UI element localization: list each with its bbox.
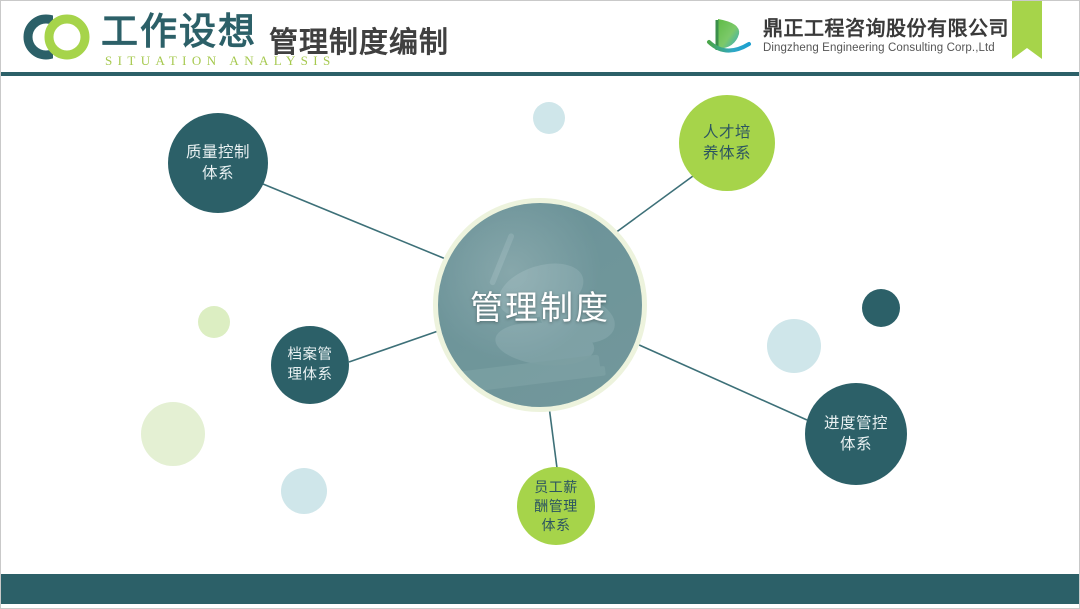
node-schedule-control[interactable]: 进度管控 体系 — [805, 383, 907, 485]
company-name-en: Dingzheng Engineering Consulting Corp.,L… — [763, 41, 1009, 56]
company-name-cn: 鼎正工程咨询股份有限公司 — [763, 18, 1009, 41]
page-title: 管理制度编制 — [269, 19, 449, 61]
node-employee-compensation-label: 员工薪 酬管理 体系 — [534, 478, 578, 535]
slide-header: 工作设想 SITUATION ANALYSIS 管理制度编制 — [1, 1, 1080, 76]
diagram-canvas: 管理制度 质量控制 体系 人才培 养体系 档案管 理体系 进度管控 体系 员工薪… — [1, 76, 1080, 576]
footer-bar — [1, 574, 1080, 604]
hub-node-label: 管理制度 — [470, 281, 610, 329]
hub-node-management-system[interactable]: 管理制度 — [433, 198, 647, 412]
connector-schedule-control — [637, 344, 807, 420]
node-schedule-control-label: 进度管控 体系 — [824, 413, 888, 455]
green-ribbon-bookmark-icon — [1012, 1, 1042, 59]
connector-quality-control — [263, 184, 453, 262]
node-talent-development[interactable]: 人才培 养体系 — [679, 95, 775, 191]
two-interlocking-rings-icon — [23, 13, 95, 61]
connector-archive-management — [349, 330, 441, 362]
brand-title-cn: 工作设想 — [101, 11, 257, 53]
node-talent-development-label: 人才培 养体系 — [703, 122, 751, 164]
node-archive-management-label: 档案管 理体系 — [288, 345, 333, 385]
node-quality-control-label: 质量控制 体系 — [186, 142, 250, 184]
node-archive-management[interactable]: 档案管 理体系 — [271, 326, 349, 404]
company-logo-block: 鼎正工程咨询股份有限公司 Dingzheng Engineering Consu… — [705, 12, 1009, 62]
node-employee-compensation[interactable]: 员工薪 酬管理 体系 — [517, 467, 595, 545]
slide-root: 工作设想 SITUATION ANALYSIS 管理制度编制 — [0, 0, 1080, 609]
dingzheng-d-logo-icon — [705, 15, 753, 59]
node-quality-control[interactable]: 质量控制 体系 — [168, 113, 268, 213]
